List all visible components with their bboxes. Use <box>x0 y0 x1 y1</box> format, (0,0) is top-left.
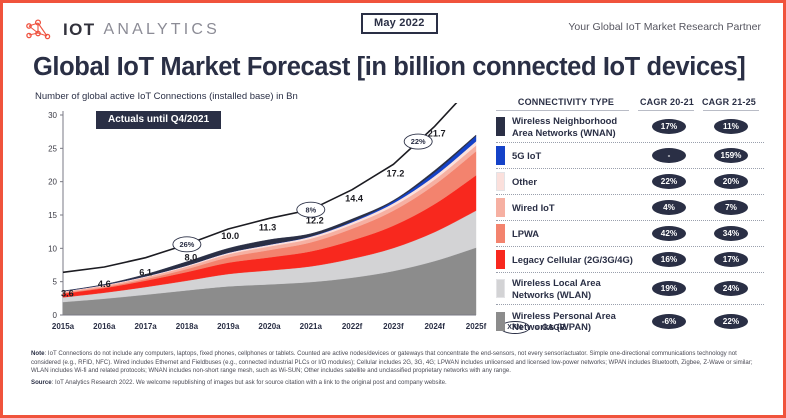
legend-cagr1-pill: 17% <box>652 119 686 134</box>
chart-canvas: 051015202530 3.64.66.18.010.011.312.214.… <box>33 103 493 348</box>
legend-row-label: Wireless Personal Area Networks (WPAN) <box>512 310 638 333</box>
legend-rows: Wireless Neighborhood Area Networks (WNA… <box>496 111 764 337</box>
note-text: : IoT Connections do not include any com… <box>31 350 753 374</box>
brand-logo: IOT ANALYTICS <box>25 19 220 41</box>
logo-text-analytics: ANALYTICS <box>104 21 221 39</box>
svg-text:10: 10 <box>48 244 57 253</box>
legend-row: Wireless Neighborhood Area Networks (WNA… <box>496 111 764 143</box>
legend-cagr2-pill: 17% <box>714 252 748 267</box>
legend-cagr-cell: 16% <box>638 252 700 267</box>
x-axis-tick-label: 2015a <box>52 322 75 331</box>
legend-color-swatch <box>496 146 505 165</box>
legend-header-row: CONNECTIVITY TYPE CAGR 20-21 CAGR 21-25 <box>496 97 764 110</box>
legend-cagr-cell: 11% <box>700 119 762 134</box>
x-axis-tick-label: 2023f <box>383 322 404 331</box>
actuals-badge: Actuals until Q4/2021 <box>96 111 221 129</box>
x-axis-tick-label: 2020a <box>258 322 281 331</box>
legend-cagr-cell: 34% <box>700 226 762 241</box>
total-value-label: 6.1 <box>139 268 152 278</box>
legend-cagr1-pill: 19% <box>652 281 686 296</box>
legend-cagr1-pill: 4% <box>652 200 686 215</box>
area-chart: 051015202530 3.64.66.18.010.011.312.214.… <box>33 103 493 348</box>
legend-cagr1-pill: -6% <box>652 314 686 329</box>
legend-cagr-cell: - <box>638 148 700 163</box>
svg-text:0: 0 <box>53 311 58 320</box>
svg-text:20: 20 <box>48 178 57 187</box>
legend-color-swatch <box>496 198 505 217</box>
source-text: : IoT Analytics Research 2022. We welcom… <box>52 379 447 386</box>
legend-color-swatch <box>496 250 505 269</box>
note-paragraph: Note: IoT Connections do not include any… <box>31 350 761 376</box>
rule-cagr2 <box>703 110 759 111</box>
legend-row-label: LPWA <box>512 228 638 240</box>
legend-cagr-cell: 22% <box>700 314 762 329</box>
cagr-bubble-label: 22% <box>411 137 426 146</box>
legend-cagr-cell: 24% <box>700 281 762 296</box>
legend-row: 5G IoT-159% <box>496 143 764 169</box>
legend-cagr-cell: 17% <box>700 252 762 267</box>
legend-row: Wireless Local Area Networks (WLAN)19%24… <box>496 273 764 305</box>
legend-cagr-cell: 7% <box>700 200 762 215</box>
footnotes: Note: IoT Connections do not include any… <box>31 350 761 387</box>
legend-row: Wireless Personal Area Networks (WPAN)-6… <box>496 305 764 337</box>
legend-color-swatch <box>496 117 505 136</box>
legend-row-label: Legacy Cellular (2G/3G/4G) <box>512 254 638 266</box>
svg-text:5: 5 <box>53 278 58 287</box>
note-label: Note <box>31 350 45 357</box>
x-axis-tick-label: 2024f <box>424 322 445 331</box>
legend-cagr1-pill: 16% <box>652 252 686 267</box>
legend-cagr2-pill: 7% <box>714 200 748 215</box>
legend-cagr2-pill: 20% <box>714 174 748 189</box>
legend-cagr-cell: 42% <box>638 226 700 241</box>
total-value-label: 17.2 <box>386 168 404 178</box>
page-header: IOT ANALYTICS May 2022 Your Global IoT M… <box>3 3 783 47</box>
tagline: Your Global IoT Market Research Partner <box>568 21 761 33</box>
source-paragraph: Source: IoT Analytics Research 2022. We … <box>31 379 761 388</box>
total-value-label: 8.0 <box>185 252 198 262</box>
x-axis: 2015a2016a2017a2018a2019a2020a2021a2022f… <box>52 315 487 331</box>
legend-row-label: Wired IoT <box>512 202 638 214</box>
total-value-label: 14.4 <box>345 194 364 204</box>
legend-cagr1-pill: 22% <box>652 174 686 189</box>
x-axis-tick-label: 2025f <box>466 322 487 331</box>
rule-cagr1 <box>638 110 694 111</box>
legend-header-cagr1: CAGR 20-21 <box>636 97 698 107</box>
x-axis-tick-label: 2016a <box>93 322 116 331</box>
cagr-bubble-label: 8% <box>305 205 316 214</box>
svg-text:15: 15 <box>48 211 57 220</box>
date-badge: May 2022 <box>361 13 438 34</box>
rule-type <box>496 110 629 111</box>
logo-text-iot: IOT <box>63 20 96 40</box>
total-value-label: 10.0 <box>221 231 239 241</box>
cagr-bubble-label: 26% <box>180 240 195 249</box>
legend-color-swatch <box>496 279 505 298</box>
svg-text:30: 30 <box>48 111 57 120</box>
legend-row: Legacy Cellular (2G/3G/4G)16%17% <box>496 247 764 273</box>
legend-row: Other22%20% <box>496 169 764 195</box>
x-axis-tick-label: 2018a <box>176 322 199 331</box>
total-value-label: 11.3 <box>259 222 276 232</box>
total-value-label: 21.7 <box>428 128 446 138</box>
legend-table: CONNECTIVITY TYPE CAGR 20-21 CAGR 21-25 … <box>496 97 764 337</box>
legend-cagr-cell: 20% <box>700 174 762 189</box>
legend-row-label: 5G IoT <box>512 150 638 162</box>
legend-cagr-cell: -6% <box>638 314 700 329</box>
legend-cagr-cell: 17% <box>638 119 700 134</box>
legend-color-swatch <box>496 172 505 191</box>
legend-color-swatch <box>496 312 505 331</box>
legend-cagr1-pill: 42% <box>652 226 686 241</box>
legend-row: Wired IoT4%7% <box>496 195 764 221</box>
legend-cagr2-pill: 24% <box>714 281 748 296</box>
total-value-label: 3.6 <box>61 288 74 298</box>
x-axis-tick-label: 2017a <box>134 322 157 331</box>
legend-cagr-cell: 4% <box>638 200 700 215</box>
legend-cagr1-pill: - <box>652 148 686 163</box>
legend-row-label: Wireless Local Area Networks (WLAN) <box>512 277 638 300</box>
page-subtitle: Number of global active IoT Connections … <box>35 91 298 102</box>
x-axis-tick-label: 2022f <box>342 322 363 331</box>
legend-cagr-cell: 19% <box>638 281 700 296</box>
total-value-label: 4.6 <box>98 279 111 289</box>
legend-cagr2-pill: 11% <box>714 119 748 134</box>
page-title: Global IoT Market Forecast [in billion c… <box>33 53 745 82</box>
x-axis-tick-label: 2021a <box>300 322 323 331</box>
legend-row-label: Wireless Neighborhood Area Networks (WNA… <box>512 115 638 138</box>
legend-header-cagr2: CAGR 21-25 <box>698 97 760 107</box>
infographic-page: IOT ANALYTICS May 2022 Your Global IoT M… <box>0 0 786 418</box>
legend-cagr2-pill: 159% <box>714 148 748 163</box>
legend-cagr2-pill: 34% <box>714 226 748 241</box>
legend-cagr-cell: 159% <box>700 148 762 163</box>
legend-cagr2-pill: 22% <box>714 314 748 329</box>
network-nodes-icon <box>25 19 55 41</box>
legend-cagr-cell: 22% <box>638 174 700 189</box>
svg-text:25: 25 <box>48 144 57 153</box>
legend-header-type: CONNECTIVITY TYPE <box>496 97 636 107</box>
legend-color-swatch <box>496 224 505 243</box>
x-axis-tick-label: 2019a <box>217 322 240 331</box>
legend-row-label: Other <box>512 176 638 188</box>
legend-row: LPWA42%34% <box>496 221 764 247</box>
source-label: Source <box>31 379 52 386</box>
